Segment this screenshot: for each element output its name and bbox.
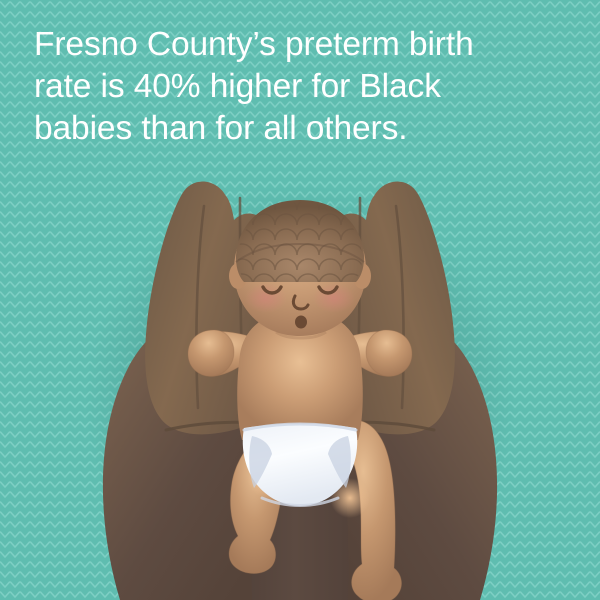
baby-mouth — [295, 316, 307, 329]
illustration-canvas — [0, 0, 600, 600]
infographic-card: Fresno County’s preterm birth rate is 40… — [0, 0, 600, 600]
baby-fist-right — [366, 330, 412, 376]
baby-fist-left — [188, 330, 234, 376]
